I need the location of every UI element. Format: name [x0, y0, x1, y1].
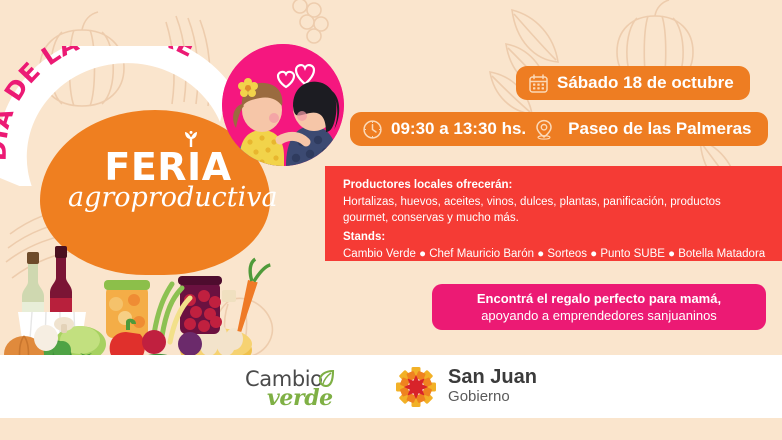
sunburst-rosette-icon — [393, 364, 439, 410]
time-label: 09:30 a 13:30 hs. — [391, 119, 526, 139]
time-place-bar: 09:30 a 13:30 hs. Paseo de las Palmeras — [350, 112, 768, 146]
cta-line-1: Encontrá el regalo perfecto para mamá, — [477, 290, 721, 307]
date-bar: Sábado 18 de octubre — [516, 66, 750, 100]
calendar-icon — [528, 73, 549, 94]
flyer-canvas: DÍA DE LA MADRE FERIA agroproductiva — [0, 0, 782, 440]
mother-and-daughter-illustration — [222, 44, 344, 166]
san-juan-line-1: San Juan — [448, 367, 537, 388]
cta-banner: Encontrá el regalo perfecto para mamá, a… — [432, 284, 766, 330]
footer-logos: Cambio verde — [0, 355, 782, 418]
cambio-verde-logo: Cambio verde — [245, 366, 341, 408]
san-juan-line-2: Gobierno — [448, 388, 537, 405]
stands-list: Cambio Verde ● Chef Mauricio Barón ● Sor… — [343, 246, 766, 262]
bottom-cream-strip — [0, 418, 782, 440]
date-label: Sábado 18 de octubre — [557, 73, 734, 93]
san-juan-gobierno-logo: San Juan Gobierno — [393, 364, 537, 410]
cta-line-2: apoyando a emprendedores sanjuaninos — [481, 307, 717, 324]
footer-band: Cambio verde — [0, 355, 782, 418]
place-label: Paseo de las Palmeras — [568, 119, 751, 139]
sprout-crown-icon — [182, 131, 200, 147]
info-panel: Productores locales ofrecerán: Hortaliza… — [325, 166, 782, 261]
location-pin-icon — [534, 118, 554, 140]
info-panel-body: Hortalizas, huevos, aceites, vinos, dulc… — [343, 194, 766, 227]
stands-heading: Stands: — [343, 229, 766, 246]
clock-icon — [362, 119, 383, 140]
feria-title-text: FERIA — [104, 145, 231, 189]
san-juan-text: San Juan Gobierno — [448, 367, 537, 405]
info-panel-heading: Productores locales ofrecerán: — [343, 177, 766, 194]
feria-title-group: FERIA agroproductiva — [68, 148, 268, 212]
verde-word: verde — [267, 385, 333, 411]
feria-title: FERIA — [104, 148, 231, 186]
